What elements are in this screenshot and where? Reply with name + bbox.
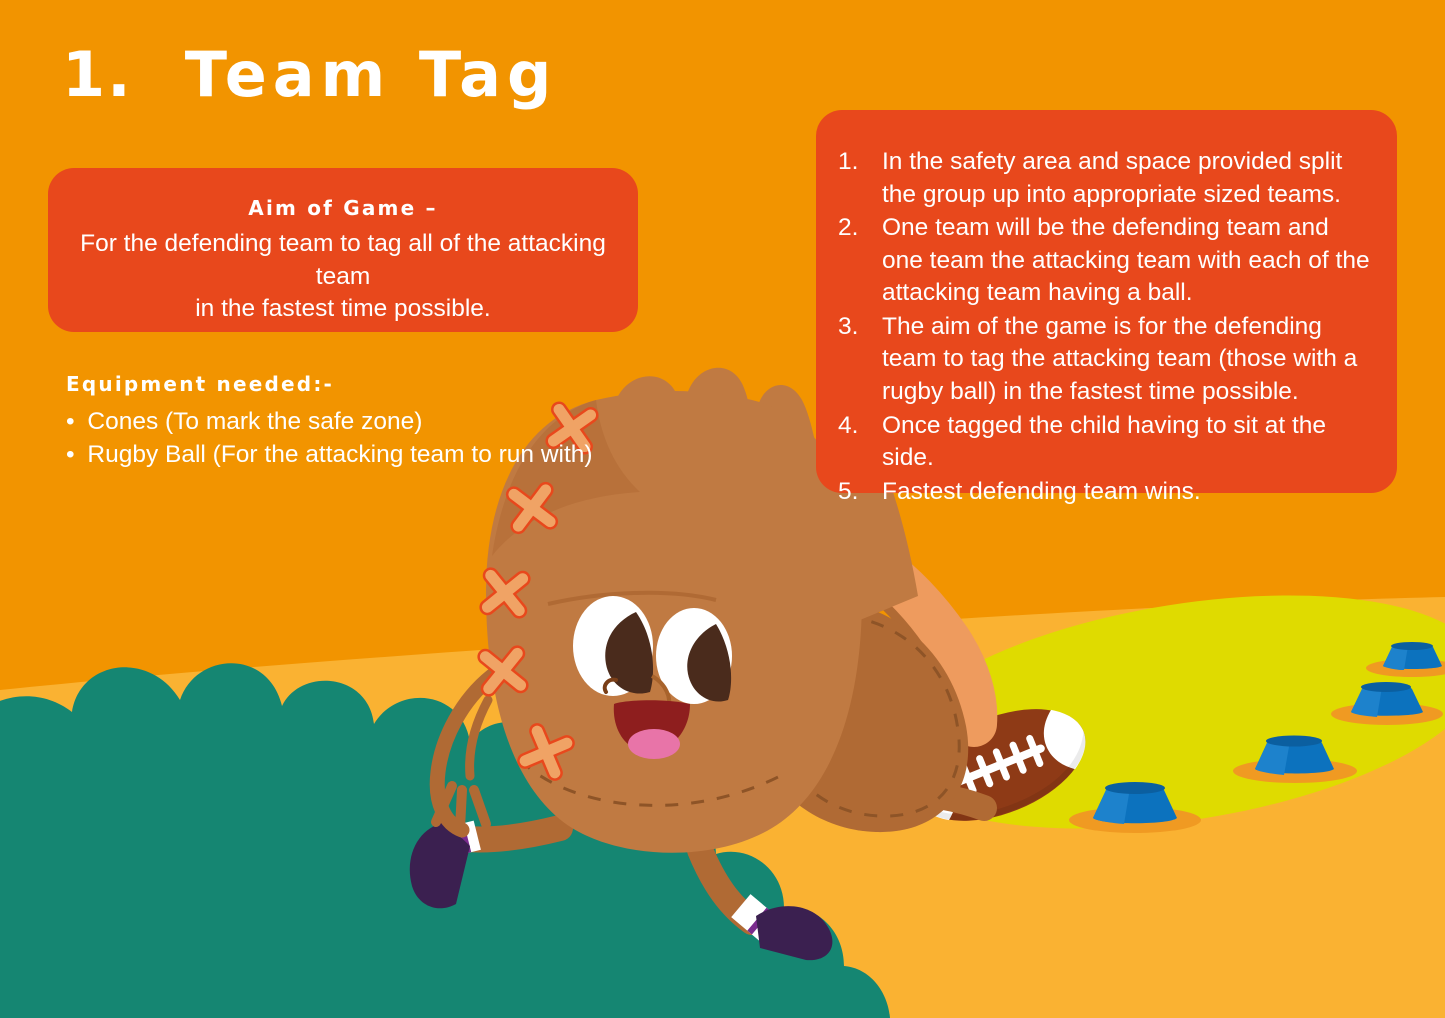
bullet-icon: • [66,441,75,468]
instruction-text: Once tagged the child having to sit at t… [882,410,1375,475]
aim-of-game-panel: Aim of Game – For the defending team to … [48,168,638,332]
poster-page: 1. Team Tag Aim of Game – For the defend… [0,0,1445,1018]
list-item: • Rugby Ball (For the attacking team to … [66,438,593,471]
mascot-right-leg [700,850,832,960]
page-title: 1. Team Tag [62,38,557,111]
list-item: 2. One team will be the defending team a… [838,212,1375,310]
aim-of-game-body: For the defending team to tag all of the… [66,228,620,326]
list-item: • Cones (To mark the safe zone) [66,405,593,438]
instructions-panel: 1. In the safety area and space provided… [816,110,1397,493]
list-item: 4. Once tagged the child having to sit a… [838,410,1375,475]
list-item: 5. Fastest defending team wins. [838,476,1375,509]
instruction-text: One team will be the defending team and … [882,212,1375,310]
equipment-heading: Equipment needed:- [66,372,593,396]
equipment-list: • Cones (To mark the safe zone) • Rugby … [66,405,593,472]
instruction-text: The aim of the game is for the defending… [882,311,1375,409]
bullet-icon: • [66,408,75,435]
page-title-number: 1. [62,38,133,111]
instruction-text: Fastest defending team wins. [882,476,1375,509]
mascot-left-leg [410,821,560,909]
instruction-number: 5. [838,476,882,509]
mascot-right-shoe [756,906,832,960]
instruction-number: 4. [838,410,882,475]
page-title-text: Team Tag [185,38,558,111]
equipment-section: Equipment needed:- • Cones (To mark the … [66,372,593,472]
instruction-number: 1. [838,146,882,211]
list-item: 3. The aim of the game is for the defend… [838,311,1375,409]
instruction-text: In the safety area and space provided sp… [882,146,1375,211]
equipment-item-label: Rugby Ball (For the attacking team to ru… [87,441,592,468]
aim-of-game-line-2: in the fastest time possible. [66,293,620,326]
equipment-item-label: Cones (To mark the safe zone) [87,408,422,435]
instruction-number: 2. [838,212,882,310]
instructions-list: 1. In the safety area and space provided… [838,146,1375,508]
aim-of-game-heading: Aim of Game – [66,196,620,220]
list-item: 1. In the safety area and space provided… [838,146,1375,211]
glove-wrist-laces [436,676,492,830]
instruction-number: 3. [838,311,882,409]
aim-of-game-line-1: For the defending team to tag all of the… [66,228,620,293]
